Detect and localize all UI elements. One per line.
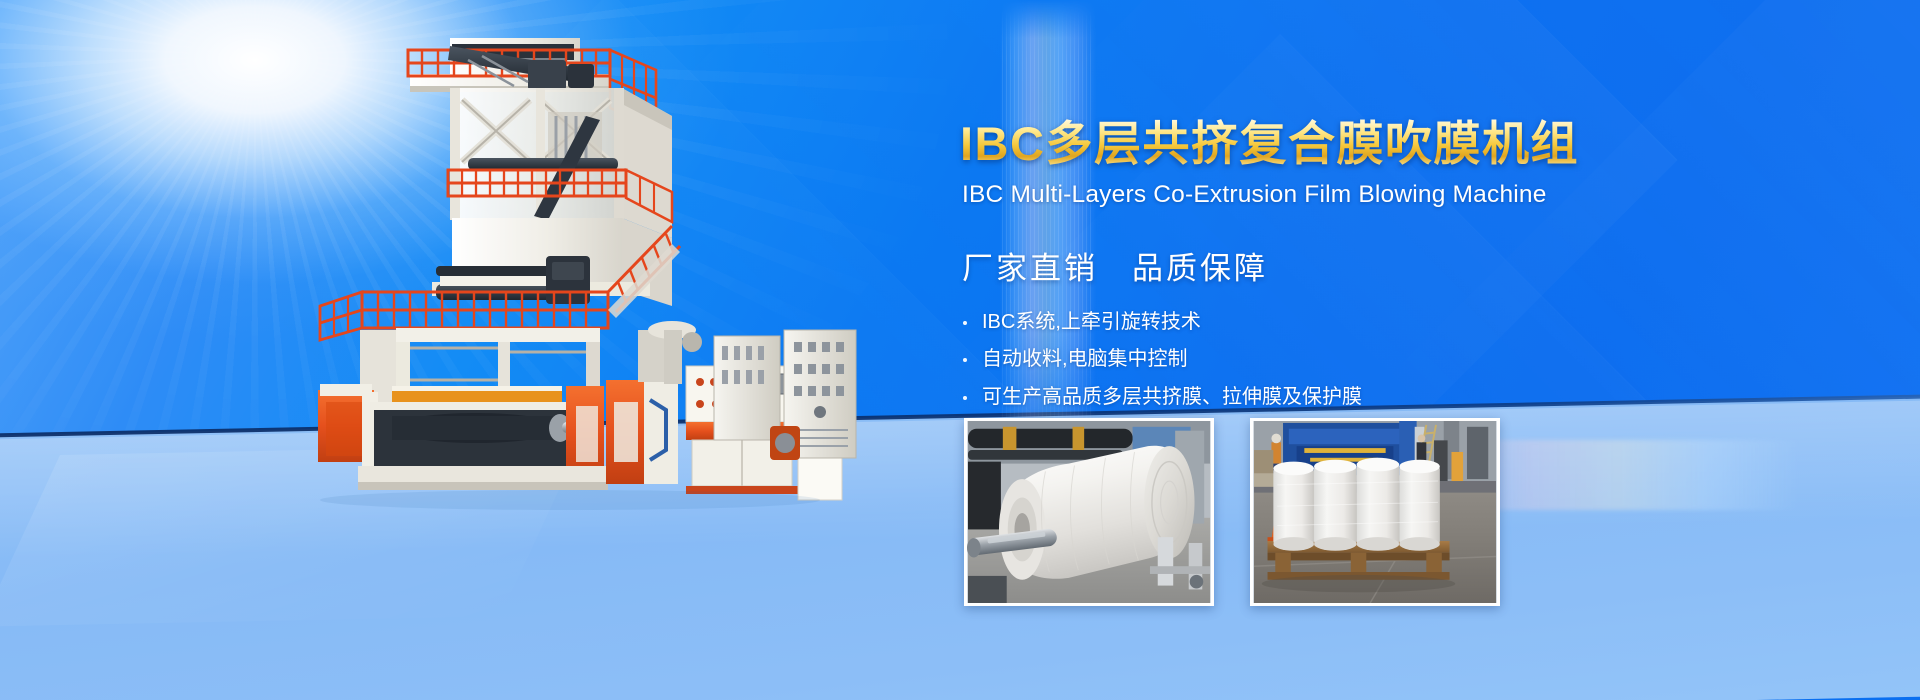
bullet-dot-icon: [963, 321, 967, 325]
feature-text: IBC系统,上牵引旋转技术: [982, 311, 1201, 333]
list-item: 可生产高品质多层共挤膜、拉伸膜及保护膜: [960, 385, 1660, 411]
list-item: IBC系统,上牵引旋转技术: [960, 310, 1660, 336]
feature-text: 自动收料,电脑集中控制: [982, 348, 1188, 370]
bullet-dot-icon: [963, 358, 967, 362]
photo-stacked-film-rolls-on-pallet: [1250, 418, 1500, 606]
banner-copy: IBC多层共挤复合膜吹膜机组 IBC多层共挤复合膜吹膜机组 IBC Multi-…: [960, 118, 1660, 422]
feature-list: IBC系统,上牵引旋转技术 自动收料,电脑集中控制 可生产高品质多层共挤膜、拉伸…: [960, 310, 1660, 411]
tagline: 厂家直销 品质保障: [962, 243, 1660, 288]
product-banner: FILM: [0, 0, 1920, 700]
list-item: 自动收料,电脑集中控制: [960, 347, 1660, 373]
photo-film-roll-on-winder: [964, 418, 1214, 606]
ibc-film-blowing-machine-image: FILM: [300, 30, 860, 640]
page-subtitle: IBC Multi-Layers Co-Extrusion Film Blowi…: [962, 181, 1660, 209]
title-wrapper: IBC多层共挤复合膜吹膜机组 IBC多层共挤复合膜吹膜机组: [960, 118, 1660, 171]
page-title: IBC多层共挤复合膜吹膜机组: [960, 118, 1660, 171]
bullet-dot-icon: [963, 396, 967, 400]
feature-text: 可生产高品质多层共挤膜、拉伸膜及保护膜: [982, 386, 1362, 408]
